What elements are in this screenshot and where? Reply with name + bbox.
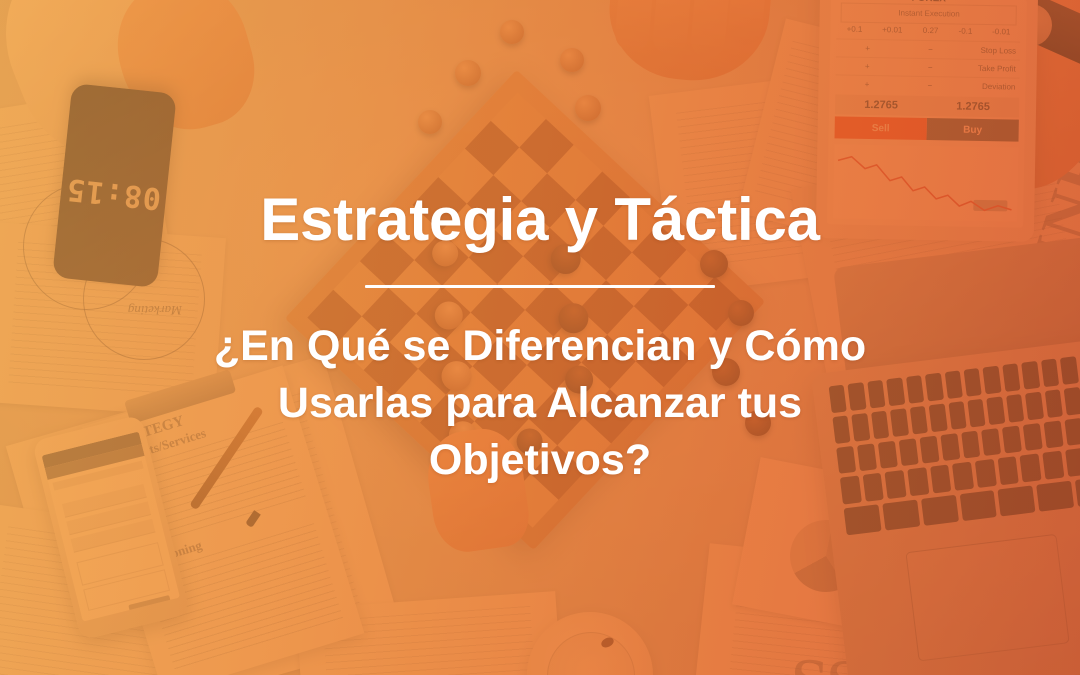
- hero-content: Estrategia y Táctica ¿En Qué se Diferenc…: [0, 0, 1080, 675]
- hero-banner: BUSINESS BUSINESS of the Marketing Stati…: [0, 0, 1080, 675]
- page-title: Estrategia y Táctica: [260, 186, 820, 253]
- page-subtitle: ¿En Qué se Diferencian y Cómo Usarlas pa…: [170, 318, 910, 490]
- title-divider: [365, 285, 715, 288]
